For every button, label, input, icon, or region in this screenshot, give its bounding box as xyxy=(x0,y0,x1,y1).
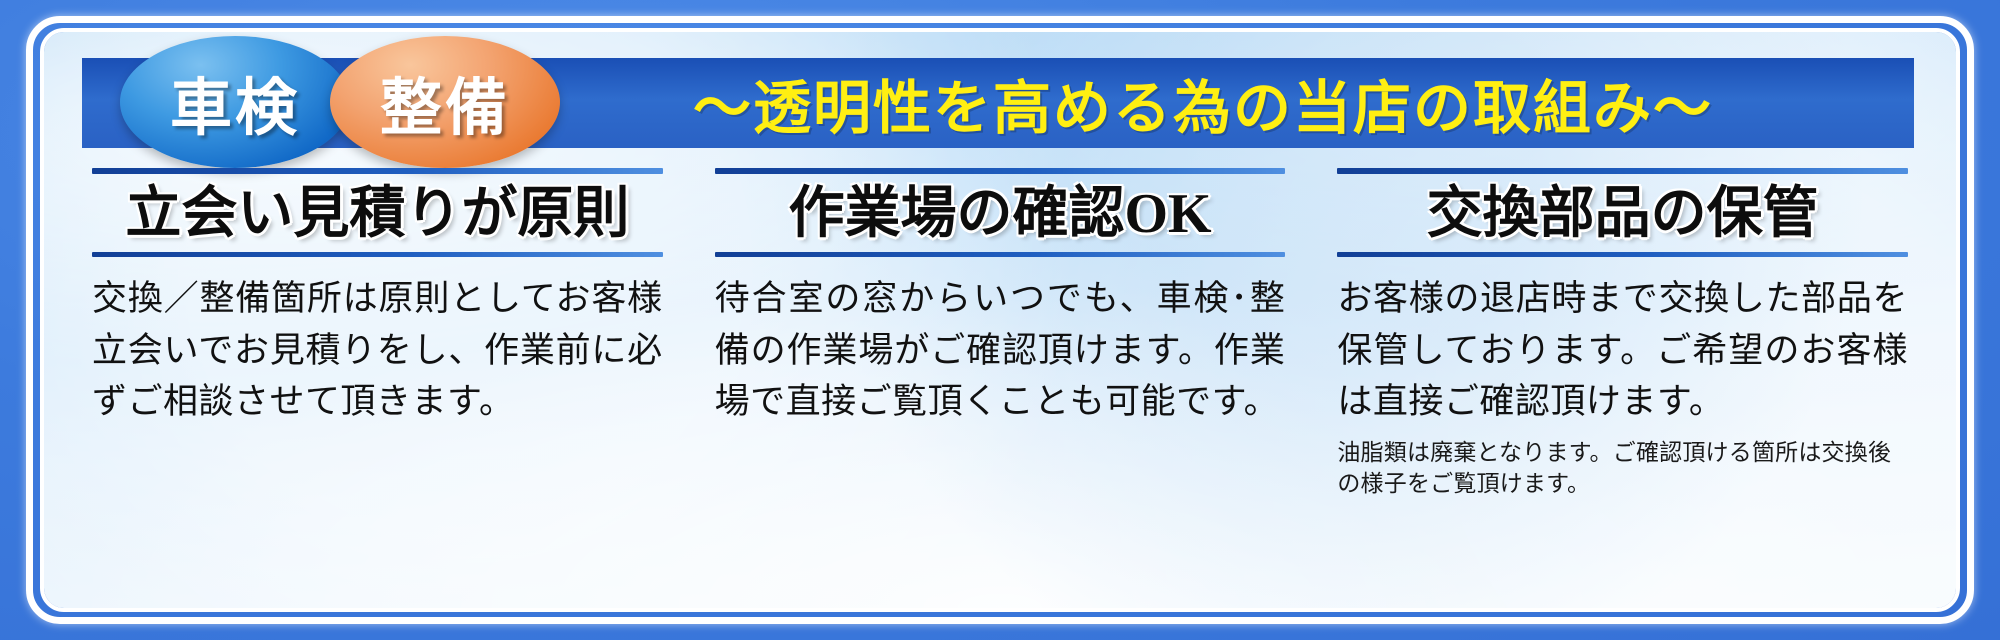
feature-heading-estimate: 立会い見積りが原則 xyxy=(92,174,663,252)
banner-content: 〜透明性を高める為の当店の取組み〜 車検 整備 立会い見積りが原則 交換／整備箇… xyxy=(44,32,1956,608)
header-title: 〜透明性を高める為の当店の取組み〜 xyxy=(502,58,1904,148)
feature-note-parts: 油脂類は廃棄となります。ご確認頂ける箇所は交換後の様子をご覧頂けます。 xyxy=(1337,437,1908,499)
header-section: 〜透明性を高める為の当店の取組み〜 車検 整備 xyxy=(82,58,1914,148)
divider-bottom xyxy=(715,252,1286,257)
badge-shaken: 車検 xyxy=(120,36,350,168)
feature-column-parts: 交換部品の保管 お客様の退店時まで交換した部品を保管しております。ご希望のお客様… xyxy=(1311,168,1934,602)
feature-column-workshop: 作業場の確認OK 待合室の窓からいつでも、車検･整備の作業場がご確認頂けます。作… xyxy=(689,168,1312,602)
badge-seibi: 整備 xyxy=(330,36,560,168)
feature-heading-parts: 交換部品の保管 xyxy=(1337,174,1908,252)
divider-bottom xyxy=(1337,252,1908,257)
feature-heading-workshop: 作業場の確認OK xyxy=(715,174,1286,252)
feature-body-estimate: 交換／整備箇所は原則としてお客様立会いでお見積りをし、作業前に必ずご相談させて頂… xyxy=(92,273,663,426)
promo-banner: 〜透明性を高める為の当店の取組み〜 車検 整備 立会い見積りが原則 交換／整備箇… xyxy=(0,0,2000,640)
feature-column-estimate: 立会い見積りが原則 交換／整備箇所は原則としてお客様立会いでお見積りをし、作業前… xyxy=(66,168,689,602)
badge-shaken-label: 車検 xyxy=(170,57,300,147)
feature-body-workshop: 待合室の窓からいつでも、車検･整備の作業場がご確認頂けます。作業場で直接ご覧頂く… xyxy=(715,273,1286,426)
feature-body-parts: お客様の退店時まで交換した部品を保管しております。ご希望のお客様は直接ご確認頂け… xyxy=(1337,273,1908,426)
divider-bottom xyxy=(92,252,663,257)
badge-seibi-label: 整備 xyxy=(380,57,510,147)
feature-columns: 立会い見積りが原則 交換／整備箇所は原則としてお客様立会いでお見積りをし、作業前… xyxy=(66,168,1934,602)
